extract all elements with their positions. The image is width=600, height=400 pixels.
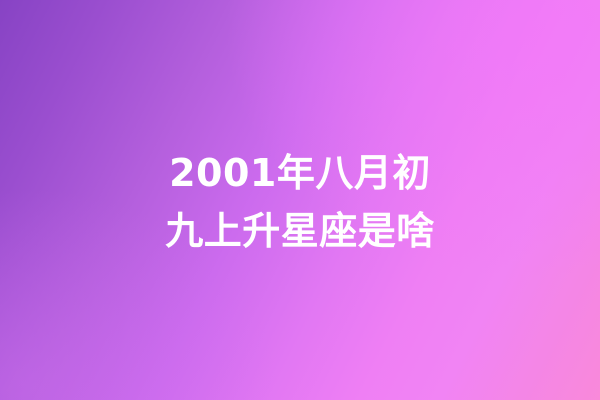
- banner-title-line-1: 2001年八月初: [169, 144, 431, 202]
- banner-title-block: 2001年八月初 九上升星座是啥: [0, 0, 600, 400]
- gradient-banner: 2001年八月初 九上升星座是啥: [0, 0, 600, 400]
- banner-title-line-2: 九上升星座是啥: [165, 202, 435, 260]
